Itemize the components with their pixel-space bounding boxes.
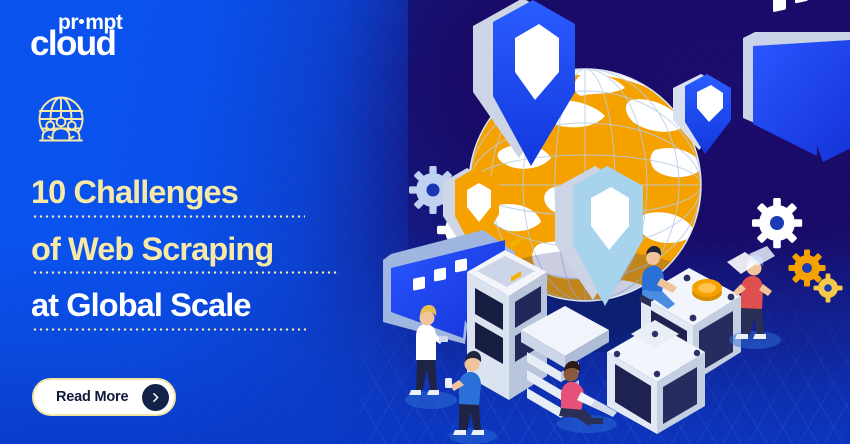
headline-underline-2 xyxy=(32,271,337,274)
logo-wordmark-bottom: cloud xyxy=(30,26,115,61)
chevron-right-icon xyxy=(142,384,169,411)
headline-line-2-text: of Web Scraping xyxy=(31,231,273,267)
read-more-label: Read More xyxy=(56,389,128,405)
promo-banner: prmpt cloud 10 Challenges xyxy=(0,0,850,444)
headline-underline-3 xyxy=(32,328,306,331)
headline-line-2: of Web Scraping xyxy=(31,233,371,266)
isometric-global-web-scraping-illustration xyxy=(355,0,850,444)
headline-line-1-text: 10 Challenges xyxy=(31,174,238,210)
globe-people-icon xyxy=(31,93,91,151)
gear-white-right xyxy=(752,198,802,248)
page-title: 10 Challenges of Web Scraping at Global … xyxy=(31,176,371,322)
headline-line-3-text: at Global Scale xyxy=(31,287,251,323)
gear-orange-right xyxy=(789,250,826,287)
headline-underline-1 xyxy=(32,215,305,218)
coin xyxy=(692,279,722,301)
read-more-button[interactable]: Read More xyxy=(32,378,176,416)
headline-line-3: at Global Scale xyxy=(31,289,371,322)
chat-bubble-right xyxy=(743,0,850,162)
promptcloud-logo[interactable]: prmpt cloud xyxy=(30,8,156,66)
headline-line-1: 10 Challenges xyxy=(31,176,371,209)
